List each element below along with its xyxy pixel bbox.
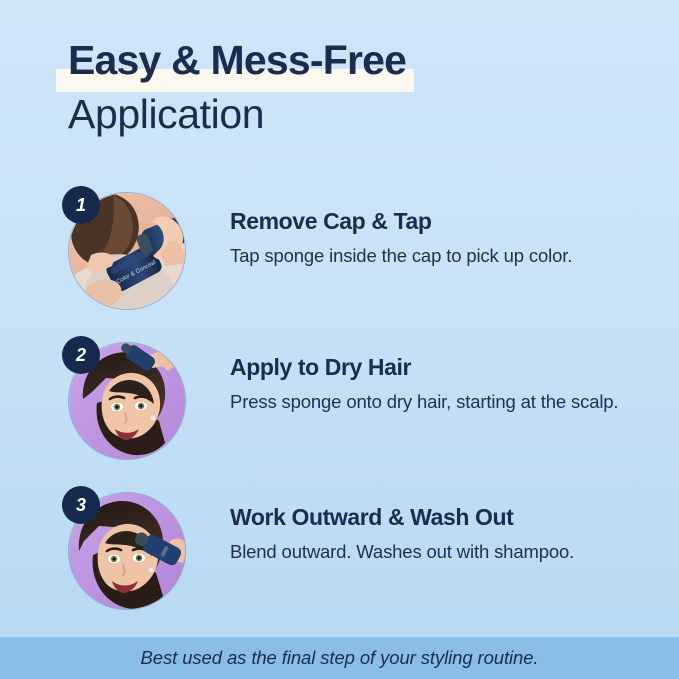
step-number-badge: 3 (62, 486, 100, 524)
step-heading: Remove Cap & Tap (230, 208, 639, 236)
step-number-badge: 2 (62, 336, 100, 374)
page-title-line1: Easy & Mess-Free (68, 38, 406, 84)
step-figure: 2 (68, 342, 186, 460)
footer-note: Best used as the final step of your styl… (141, 647, 539, 669)
step-figure: Color & Conceal 1 (68, 192, 186, 310)
steps-list: Color & Conceal 1 (0, 182, 679, 632)
step-text: Work Outward & Wash Out Blend outward. W… (230, 504, 639, 565)
step-item: 2 Apply to Dry Hair Press sponge onto dr… (0, 332, 679, 482)
step-item: 3 Work Outward & Wash Out Blend outward.… (0, 482, 679, 632)
page-title-line2: Application (68, 90, 628, 139)
title-line1-wrapper: Easy & Mess-Free (68, 38, 406, 84)
footer-band: Best used as the final step of your styl… (0, 637, 679, 679)
step-description: Tap sponge inside the cap to pick up col… (230, 243, 639, 269)
step-heading: Apply to Dry Hair (230, 354, 639, 382)
step-text: Remove Cap & Tap Tap sponge inside the c… (230, 208, 639, 269)
step-description: Press sponge onto dry hair, starting at … (230, 389, 639, 415)
header-block: Easy & Mess-Free Application (68, 38, 628, 139)
step-description: Blend outward. Washes out with shampoo. (230, 539, 639, 565)
step-number-badge: 1 (62, 186, 100, 224)
step-heading: Work Outward & Wash Out (230, 504, 639, 532)
step-text: Apply to Dry Hair Press sponge onto dry … (230, 354, 639, 415)
step-figure: 3 (68, 492, 186, 610)
step-item: Color & Conceal 1 (0, 182, 679, 332)
